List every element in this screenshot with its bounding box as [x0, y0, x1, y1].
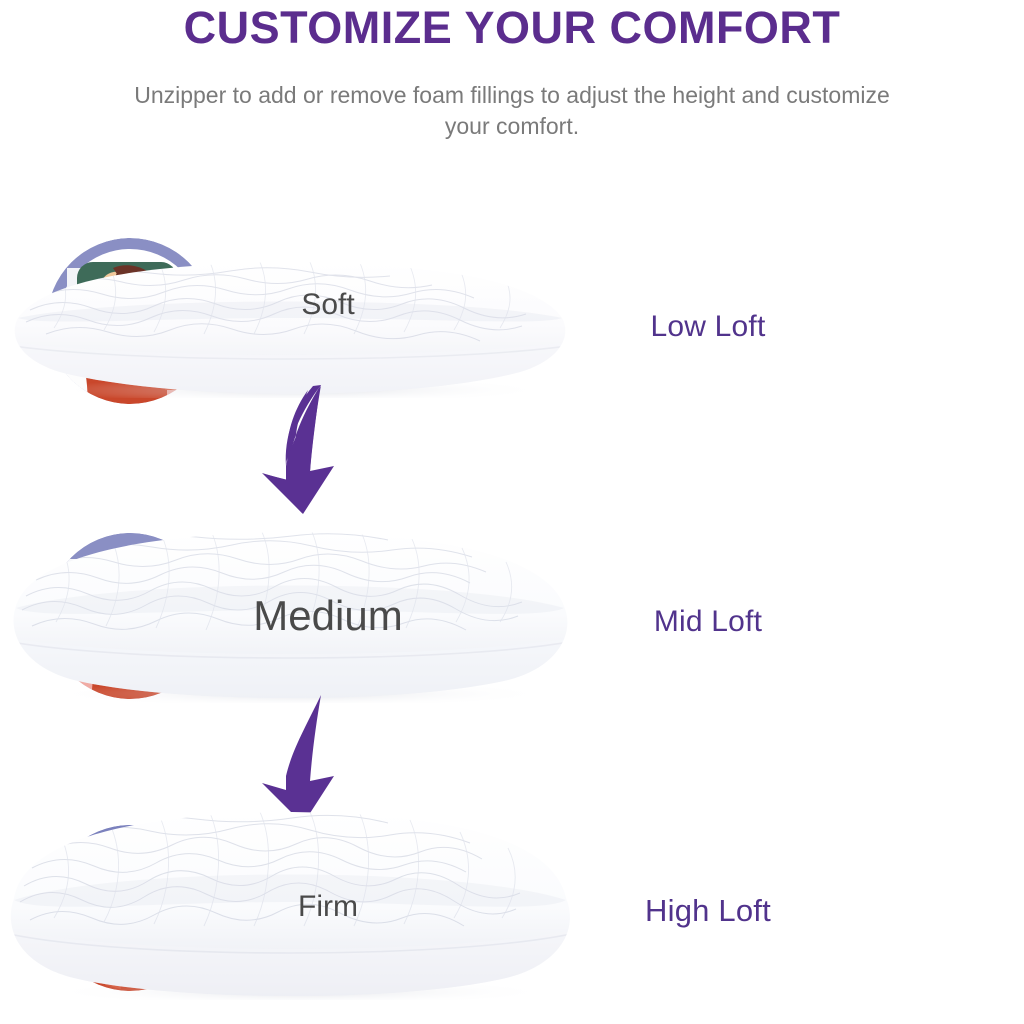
page-subtitle: Unzipper to add or remove foam fillings … [127, 54, 897, 143]
row-medium [0, 523, 1024, 713]
down-arrow-soft-to-medium [258, 382, 368, 517]
firmness-label-soft: Soft [228, 288, 428, 322]
firmness-label-firm: Firm [228, 890, 428, 924]
header: CUSTOMIZE YOUR COMFORT Unzipper to add o… [0, 0, 1024, 143]
page-title: CUSTOMIZE YOUR COMFORT [0, 0, 1024, 54]
infographic-page: CUSTOMIZE YOUR COMFORT Unzipper to add o… [0, 0, 1024, 1024]
row-soft [0, 228, 1024, 418]
row-firm [0, 815, 1024, 1005]
low-loft-pillow [0, 248, 580, 398]
firmness-label-medium: Medium [228, 592, 428, 640]
